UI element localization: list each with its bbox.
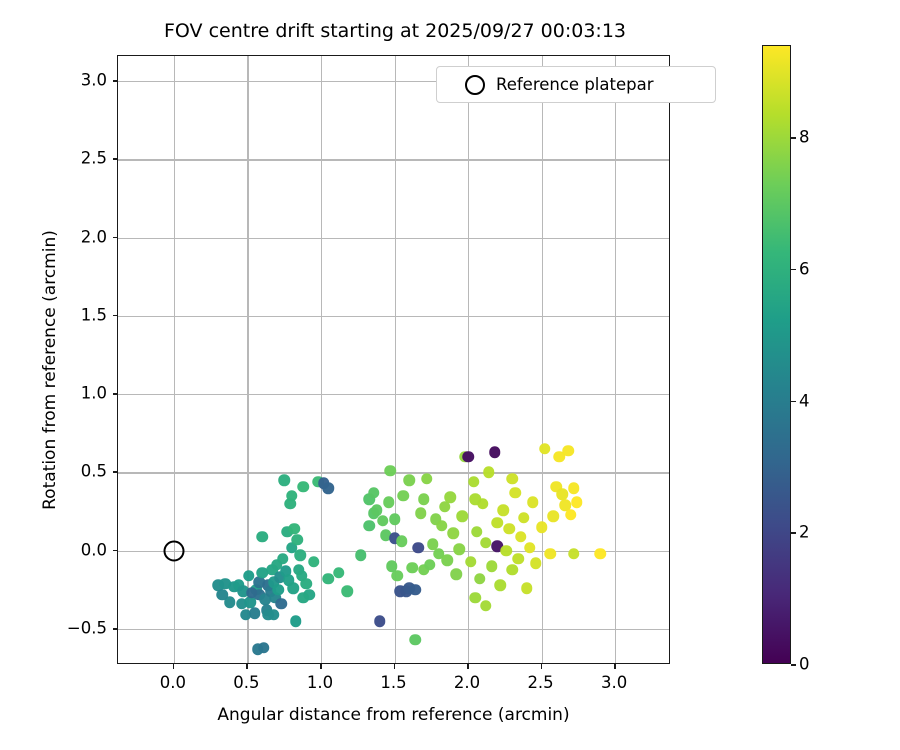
y-tick-mark bbox=[113, 237, 118, 239]
x-tick-label: 0.0 bbox=[160, 673, 186, 692]
y-tick-mark bbox=[113, 80, 118, 82]
colorbar-tick-label: 0 bbox=[799, 655, 810, 674]
x-tick-mark bbox=[173, 664, 175, 669]
scatter-point bbox=[506, 564, 518, 576]
scatter-point bbox=[424, 559, 436, 571]
scatter-point bbox=[287, 583, 299, 595]
scatter-point bbox=[565, 509, 577, 521]
scatter-point bbox=[295, 550, 307, 562]
colorbar-tick-label: 6 bbox=[799, 259, 810, 278]
scatter-point bbox=[409, 634, 421, 646]
scatter-point bbox=[383, 496, 395, 508]
scatter-point bbox=[521, 583, 533, 595]
x-tick-label: 1.5 bbox=[380, 673, 406, 692]
scatter-point bbox=[595, 548, 607, 560]
scatter-point bbox=[489, 446, 501, 458]
colorbar-tick-label: 8 bbox=[799, 128, 810, 147]
y-tick-mark bbox=[113, 393, 118, 395]
scatter-point bbox=[530, 557, 542, 569]
scatter-point bbox=[474, 573, 486, 585]
scatter-point bbox=[515, 531, 527, 543]
scatter-point bbox=[539, 443, 551, 455]
scatter-point bbox=[470, 592, 482, 604]
scatter-point bbox=[403, 475, 415, 487]
scatter-point bbox=[406, 562, 418, 574]
y-tick-mark bbox=[113, 550, 118, 552]
colorbar-tick-mark bbox=[791, 401, 796, 403]
scatter-point bbox=[483, 467, 495, 479]
colorbar-gradient bbox=[763, 46, 790, 663]
scatter-point bbox=[377, 515, 389, 527]
scatter-point bbox=[527, 496, 539, 508]
scatter-point bbox=[289, 523, 301, 535]
scatter-point bbox=[465, 556, 477, 568]
scatter-point bbox=[355, 550, 367, 562]
scatter-point bbox=[418, 493, 430, 505]
y-tick-label: 0.0 bbox=[81, 540, 107, 559]
y-tick-mark bbox=[113, 628, 118, 630]
scatter-point bbox=[545, 548, 557, 560]
scatter-point bbox=[277, 553, 289, 565]
scatter-point bbox=[364, 520, 376, 532]
scatter-point bbox=[501, 545, 513, 557]
scatter-points bbox=[118, 56, 669, 663]
open-circle-icon bbox=[465, 75, 485, 95]
scatter-point bbox=[548, 511, 560, 523]
y-tick-label: 1.0 bbox=[81, 384, 107, 403]
colorbar-tick-label: 4 bbox=[799, 391, 810, 410]
scatter-point bbox=[509, 487, 521, 499]
colorbar-tick-mark bbox=[791, 532, 796, 534]
scatter-point bbox=[290, 615, 302, 627]
x-tick-label: 2.5 bbox=[527, 673, 553, 692]
x-tick-mark bbox=[394, 664, 396, 669]
scatter-point bbox=[462, 451, 474, 463]
scatter-point bbox=[308, 556, 320, 568]
scatter-point bbox=[276, 598, 288, 610]
y-tick-label: 2.5 bbox=[81, 149, 107, 168]
scatter-point bbox=[392, 570, 404, 582]
scatter-point bbox=[568, 548, 580, 560]
scatter-point bbox=[536, 521, 548, 533]
colorbar-tick-label: 2 bbox=[799, 523, 810, 542]
scatter-point bbox=[292, 534, 304, 546]
x-tick-mark bbox=[320, 664, 322, 669]
y-tick-label: 0.5 bbox=[81, 462, 107, 481]
scatter-point bbox=[436, 520, 448, 532]
scatter-point bbox=[453, 543, 465, 555]
scatter-point bbox=[374, 615, 386, 627]
scatter-point bbox=[384, 465, 396, 477]
scatter-point bbox=[486, 561, 498, 573]
scatter-point bbox=[273, 584, 285, 596]
scatter-point bbox=[448, 528, 460, 540]
scatter-point bbox=[518, 512, 530, 524]
scatter-point bbox=[409, 584, 421, 596]
y-tick-label: 1.5 bbox=[81, 305, 107, 324]
colorbar-tick-mark bbox=[791, 664, 796, 666]
colorbar-tick-mark bbox=[791, 269, 796, 271]
scatter-point bbox=[506, 473, 518, 485]
scatter-point bbox=[286, 490, 298, 502]
y-tick-mark bbox=[113, 158, 118, 160]
scatter-point bbox=[298, 481, 310, 493]
scatter-point bbox=[470, 493, 482, 505]
scatter-point bbox=[368, 487, 380, 499]
scatter-point bbox=[333, 567, 345, 579]
scatter-point bbox=[492, 517, 504, 529]
x-tick-mark bbox=[614, 664, 616, 669]
scatter-point bbox=[246, 587, 258, 599]
scatter-point bbox=[217, 589, 229, 601]
scatter-point bbox=[396, 536, 408, 548]
x-tick-mark bbox=[246, 664, 248, 669]
x-tick-label: 2.0 bbox=[454, 673, 480, 692]
scatter-point bbox=[249, 608, 261, 620]
scatter-point bbox=[480, 600, 492, 612]
y-tick-label: 3.0 bbox=[81, 71, 107, 90]
scatter-point bbox=[456, 511, 468, 523]
scatter-point bbox=[412, 542, 424, 554]
scatter-point bbox=[512, 553, 524, 565]
scatter-point bbox=[398, 490, 410, 502]
scatter-point bbox=[495, 579, 507, 591]
scatter-point bbox=[301, 578, 313, 590]
scatter-point bbox=[442, 554, 454, 566]
scatter-point bbox=[268, 609, 280, 621]
scatter-point bbox=[415, 507, 427, 519]
scatter-point bbox=[389, 514, 401, 526]
plot-area bbox=[117, 55, 670, 664]
scatter-point bbox=[556, 489, 568, 501]
scatter-point bbox=[471, 526, 483, 538]
scatter-point bbox=[498, 504, 510, 516]
x-tick-label: 0.5 bbox=[233, 673, 259, 692]
colorbar-tick-mark bbox=[791, 137, 796, 139]
y-tick-label: −0.5 bbox=[67, 618, 107, 637]
reference-platepar-marker bbox=[163, 540, 184, 561]
scatter-point bbox=[480, 537, 492, 549]
chart-title: FOV centre drift starting at 2025/09/27 … bbox=[0, 20, 790, 42]
scatter-point bbox=[256, 531, 268, 543]
scatter-point bbox=[571, 496, 583, 508]
x-tick-label: 1.0 bbox=[307, 673, 333, 692]
scatter-point bbox=[451, 568, 463, 580]
legend-label: Reference platepar bbox=[496, 75, 654, 94]
scatter-point bbox=[524, 542, 536, 554]
scatter-point bbox=[298, 592, 310, 604]
scatter-point bbox=[503, 523, 515, 535]
y-tick-label: 2.0 bbox=[81, 227, 107, 246]
scatter-point bbox=[468, 476, 480, 488]
scatter-point bbox=[568, 482, 580, 494]
scatter-point bbox=[278, 475, 290, 487]
scatter-point bbox=[342, 586, 354, 598]
chart-root: FOV centre drift starting at 2025/09/27 … bbox=[0, 0, 900, 750]
x-tick-label: 3.0 bbox=[601, 673, 627, 692]
scatter-point bbox=[323, 482, 335, 494]
scatter-point bbox=[258, 642, 270, 654]
scatter-point bbox=[445, 492, 457, 504]
y-tick-mark bbox=[113, 471, 118, 473]
x-axis-label: Angular distance from reference (arcmin) bbox=[117, 705, 670, 725]
scatter-point bbox=[562, 445, 574, 457]
scatter-point bbox=[371, 504, 383, 516]
y-axis-label: Rotation from reference (arcmin) bbox=[40, 160, 60, 580]
x-tick-mark bbox=[467, 664, 469, 669]
scatter-point bbox=[421, 473, 433, 485]
colorbar bbox=[762, 45, 791, 664]
legend[interactable]: Reference platepar bbox=[436, 66, 716, 103]
y-tick-mark bbox=[113, 315, 118, 317]
x-tick-mark bbox=[541, 664, 543, 669]
